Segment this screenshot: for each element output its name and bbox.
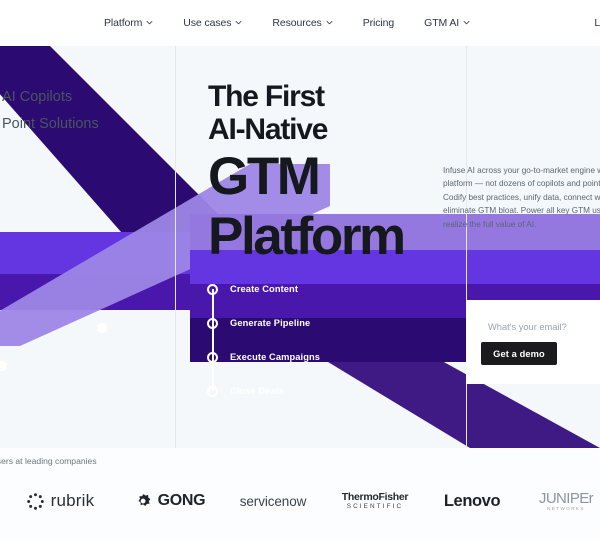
step-node-icon	[207, 386, 218, 397]
customer-logo-row: rubrik GONG servicenow ThermoFisher	[0, 478, 600, 524]
comparison-bullet-list: AI Copilots Point Solutions	[0, 84, 99, 138]
nav-links: Platform Use cases Resources Pricing	[104, 17, 470, 29]
nav-item-gtm-ai[interactable]: GTM AI	[424, 17, 470, 29]
headline-line-1: The First	[208, 80, 404, 113]
logo-gong: GONG	[120, 478, 220, 524]
nav-item-label: Resources	[272, 17, 321, 29]
logo-lenovo: Lenovo	[424, 478, 520, 524]
nav-right-group: Lo	[594, 0, 600, 46]
logo-rubrik: rubrik	[0, 478, 120, 524]
nav-item-label: Use cases	[183, 17, 231, 29]
chevron-down-icon	[326, 19, 333, 26]
chevron-down-icon	[146, 19, 153, 26]
login-link[interactable]: Lo	[594, 17, 600, 29]
logo-wordmark: JUNIPEr	[539, 491, 593, 506]
logo-wordmark: Lenovo	[444, 492, 500, 511]
step-label: Execute Campaigns	[230, 352, 320, 362]
nav-item-pricing[interactable]: Pricing	[363, 17, 394, 29]
nav-item-use-cases[interactable]: Use cases	[183, 17, 242, 29]
logo-subtitle: SCIENTIFIC	[342, 504, 408, 510]
hero-section: AI Copilots Point Solutions The First AI…	[0, 46, 600, 448]
chevron-down-icon	[235, 19, 242, 26]
nav-item-resources[interactable]: Resources	[272, 17, 332, 29]
chevron-down-icon	[463, 19, 470, 26]
list-item: Point Solutions	[0, 111, 99, 138]
hero-description: Infuse AI across your go-to-market engin…	[443, 164, 600, 231]
step-label: Create Content	[230, 284, 298, 294]
logo-juniper: JUNIPEr NETWORKS	[520, 478, 600, 524]
social-proof-caption: users at leading companies	[0, 456, 97, 466]
logo-wordmark: ThermoFisher	[342, 492, 408, 503]
email-input[interactable]	[488, 315, 600, 339]
step-label: Close Deals	[230, 386, 284, 396]
page-root: Platform Use cases Resources Pricing	[0, 0, 600, 540]
logo-thermofisher: ThermoFisher SCIENTIFIC	[326, 478, 424, 524]
headline-line-3: GTM	[208, 148, 404, 206]
logo-servicenow: servicenow	[220, 478, 326, 524]
nav-item-platform[interactable]: Platform	[104, 17, 153, 29]
list-item: AI Copilots	[0, 84, 99, 111]
get-a-demo-button[interactable]: Get a demo	[481, 342, 557, 365]
top-navigation-bar: Platform Use cases Resources Pricing	[0, 0, 600, 46]
bullet-label: AI Copilots	[2, 84, 72, 111]
step-node-icon	[207, 352, 218, 363]
headline-line-4: Platform	[208, 208, 404, 266]
step-label: Generate Pipeline	[230, 318, 310, 328]
nav-item-label: GTM AI	[424, 17, 459, 29]
logo-wordmark: GONG	[158, 492, 206, 510]
social-proof-strip: users at leading companies rubrik	[0, 448, 600, 540]
nav-item-label: Pricing	[363, 17, 394, 29]
nav-item-label: Platform	[104, 17, 142, 29]
step-node-icon	[207, 318, 218, 329]
bullet-label: Point Solutions	[2, 111, 99, 138]
gong-mark-icon	[135, 493, 152, 510]
logo-wordmark: servicenow	[240, 494, 307, 509]
step-node-icon	[207, 284, 218, 295]
logo-subtitle: NETWORKS	[539, 507, 593, 512]
headline-line-2: AI-Native	[208, 113, 404, 146]
demo-signup-card: Get a demo	[466, 300, 600, 384]
logo-wordmark: rubrik	[51, 491, 95, 511]
page-title: The First AI-Native GTM Platform	[208, 80, 404, 266]
rubrik-mark-icon	[26, 492, 45, 511]
